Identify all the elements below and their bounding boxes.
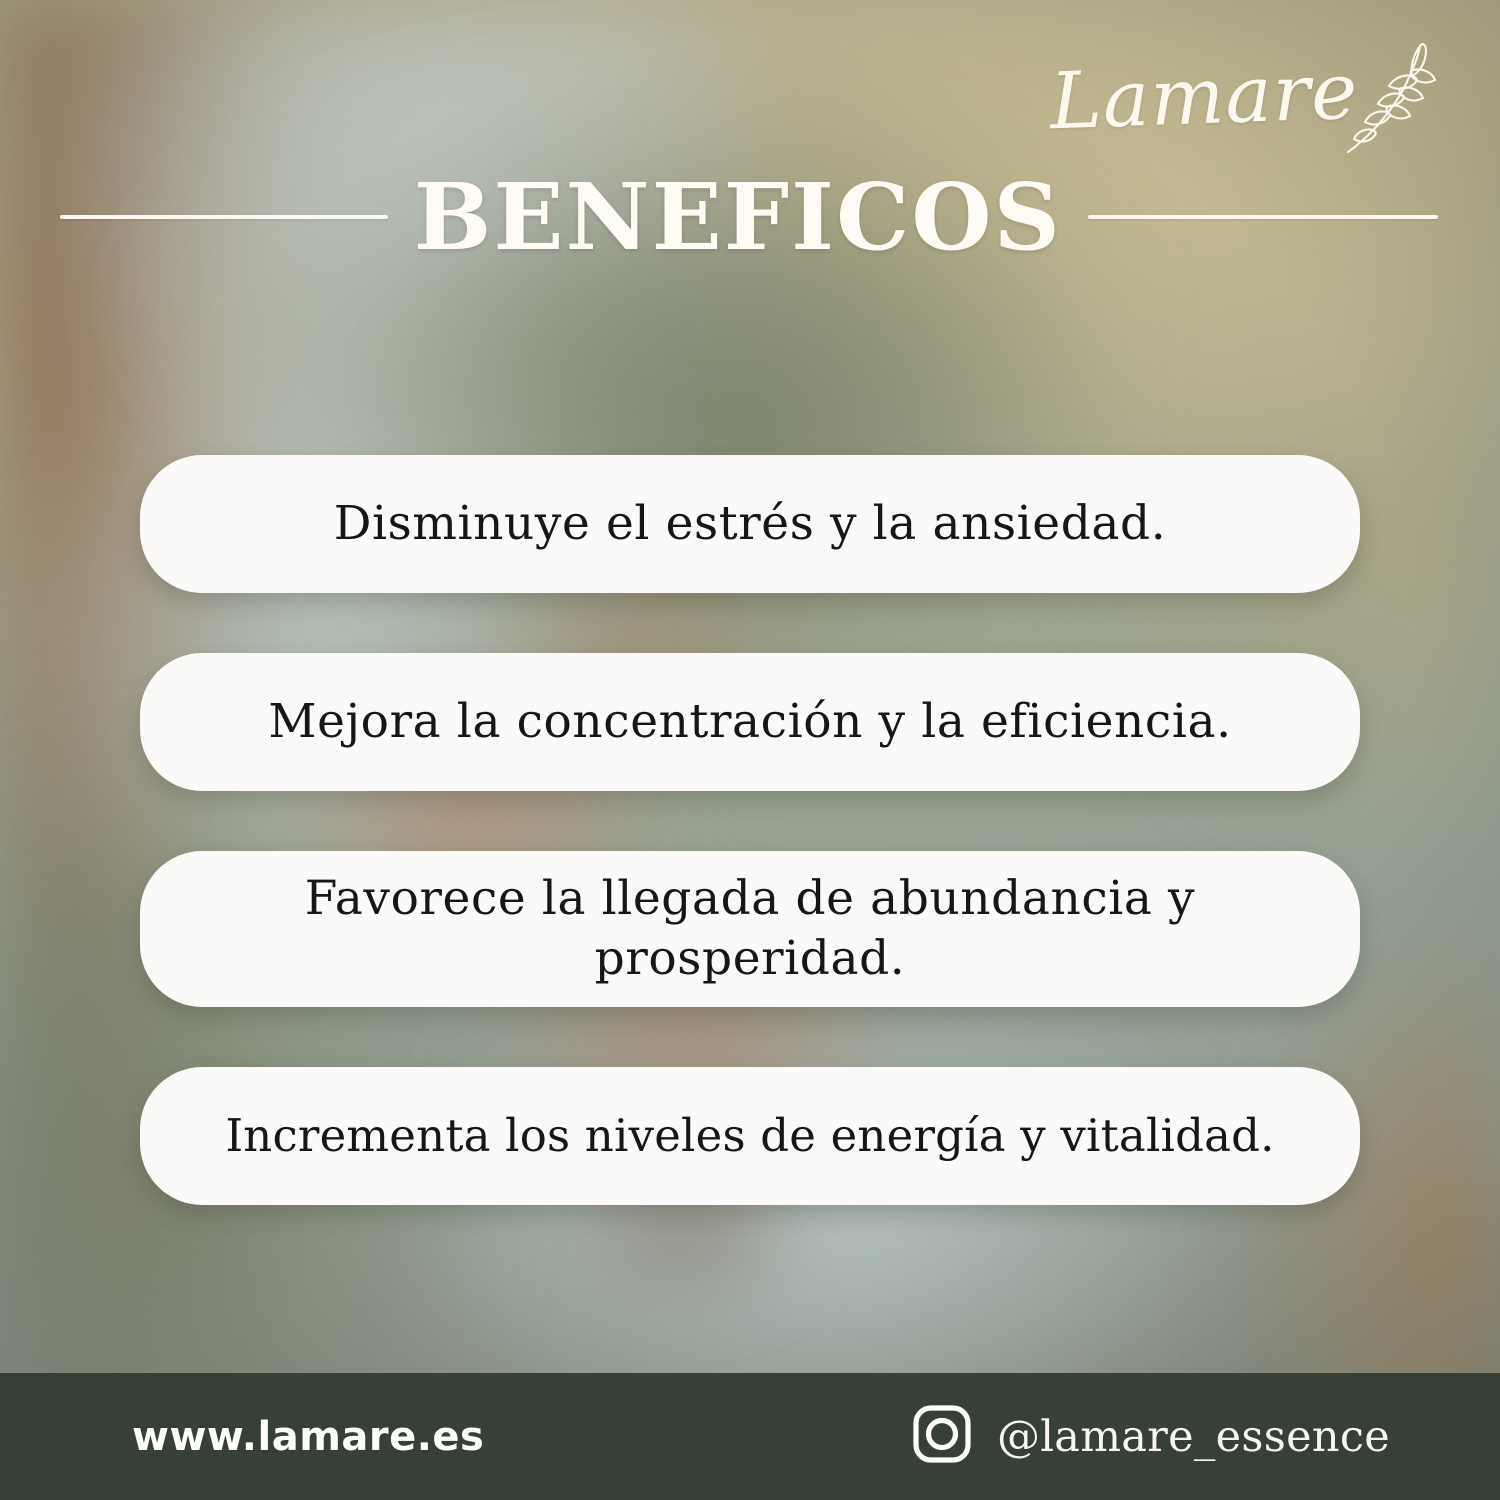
page-title-row: BENEFICOS xyxy=(0,163,1500,271)
instagram-link[interactable]: @lamare_essence xyxy=(911,1403,1390,1470)
title-rule-left xyxy=(60,215,388,219)
page-title: BENEFICOS xyxy=(414,171,1062,263)
benefit-card: Favorece la llegada de abundancia y pros… xyxy=(140,851,1360,1007)
benefit-card: Disminuye el estrés y la ansiedad. xyxy=(140,455,1360,593)
instagram-icon xyxy=(911,1403,973,1470)
benefits-list: Disminuye el estrés y la ansiedad. Mejor… xyxy=(140,455,1360,1205)
title-rule-right xyxy=(1088,215,1438,219)
benefit-card-text: Incrementa los niveles de energía y vita… xyxy=(225,1109,1274,1164)
footer-bar: www.lamare.es @lamare_essence xyxy=(0,1373,1500,1500)
leaf-branch-icon xyxy=(1342,40,1438,163)
benefit-card: Mejora la concentración y la eficiencia. xyxy=(140,653,1360,791)
website-link[interactable]: www.lamare.es xyxy=(132,1414,484,1460)
benefit-card: Incrementa los niveles de energía y vita… xyxy=(140,1067,1360,1205)
benefits-poster: Lamare BENEFICOS Disminuye el estrés y l… xyxy=(0,0,1500,1500)
brand-logo-wordmark: Lamare xyxy=(1049,53,1360,142)
benefit-card-text: Mejora la concentración y la eficiencia. xyxy=(268,693,1231,750)
benefit-card-text: Disminuye el estrés y la ansiedad. xyxy=(334,495,1167,552)
brand-logo: Lamare xyxy=(1050,44,1438,167)
instagram-handle: @lamare_essence xyxy=(997,1412,1390,1462)
benefit-card-text: Favorece la llegada de abundancia y pros… xyxy=(300,869,1200,989)
